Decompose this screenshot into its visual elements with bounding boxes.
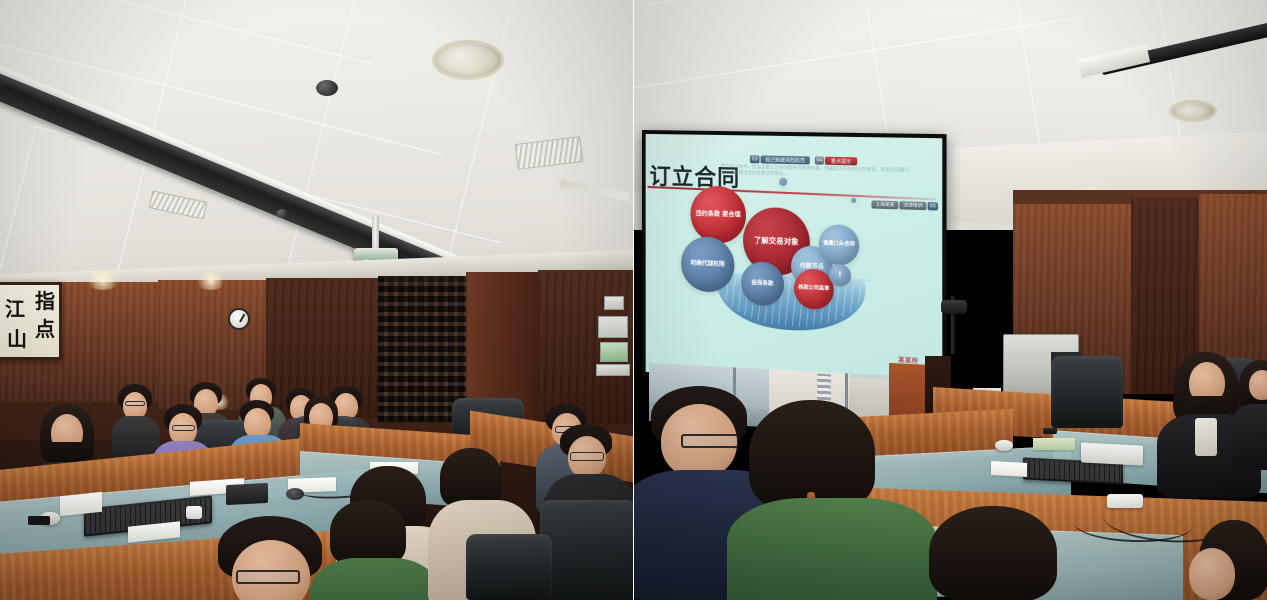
- slide-badge-highlight: 重点提示: [825, 157, 857, 166]
- paper-sheet: [991, 461, 1027, 477]
- document-folder: [1033, 438, 1075, 450]
- right-photo-presentation: 订立合同 在交易过程中，应当注意订立合同的各项条款内容，明确双方的权利义务关系，…: [633, 0, 1267, 600]
- downlight-icon: [86, 270, 120, 290]
- projection-screen[interactable]: 订立合同 在交易过程中，应当注意订立合同的各项条款内容，明确双方的权利义务关系，…: [646, 134, 943, 393]
- slide-bubble: 慎重口头合同: [819, 224, 859, 266]
- smoke-detector-icon: [276, 209, 288, 218]
- calligraphy-char: 指: [35, 291, 55, 311]
- downlight-icon: [196, 272, 226, 290]
- slide-badge-section: 知己知彼风险防范: [761, 155, 810, 164]
- slide-badge-number: 03: [750, 155, 760, 163]
- safety-sign: [600, 342, 628, 362]
- decor-dot: [779, 178, 787, 186]
- decor-dot: [851, 198, 856, 203]
- slide-bubble-exclamation: !: [829, 264, 851, 287]
- framed-calligraphy: 指 点 江 山: [0, 282, 62, 360]
- calligraphy-char: 山: [7, 329, 27, 349]
- ceiling-speaker-icon: [432, 40, 504, 80]
- photo-divider: [633, 0, 634, 600]
- projector-mount: [372, 216, 379, 250]
- slide-corner-badge: 法律培训: [899, 201, 926, 210]
- slide-corner-badge-number: 05: [928, 202, 939, 211]
- presenter-remote[interactable]: [1043, 428, 1057, 434]
- left-photo-meeting-room: 指 点 江 山: [0, 0, 633, 600]
- paper-cup: [186, 506, 202, 519]
- ceiling-speaker-icon: [1169, 100, 1217, 122]
- tissue-box: [226, 483, 268, 505]
- calligraphy-char: 点: [35, 319, 55, 339]
- smoke-detector-icon: [316, 80, 338, 96]
- slide-bubble: 违约条款 要合理: [691, 185, 746, 244]
- office-chair: [1051, 356, 1123, 428]
- laptop[interactable]: [1081, 442, 1143, 465]
- slide-divider: [648, 186, 936, 201]
- notice-sign: [598, 316, 628, 338]
- wall-clock: [228, 308, 250, 330]
- projection-screen-frame: 订立合同 在交易过程中，应当注意订立合同的各项条款内容，明确双方的权利义务关系，…: [642, 130, 947, 397]
- slide-badge-number: 04: [815, 156, 824, 164]
- slide-corner-badge: 上海某某: [872, 200, 899, 209]
- notice-sign: [596, 364, 630, 376]
- slide-subtext: 在交易过程中，应当注意订立合同的各项条款内容，明确双方的权利义务关系，防范合同履…: [721, 165, 911, 182]
- ceiling-camera: [941, 300, 967, 314]
- smartphone[interactable]: [28, 516, 50, 525]
- office-chair: [466, 534, 552, 600]
- mouse[interactable]: [995, 440, 1013, 451]
- two-photo-composite: 指 点 江 山: [0, 0, 1267, 600]
- slide-bubble: 明确代理权限: [681, 236, 734, 293]
- office-chair: [540, 500, 633, 600]
- calligraphy-char: 江: [5, 299, 25, 319]
- door-sign-plate: [604, 296, 624, 310]
